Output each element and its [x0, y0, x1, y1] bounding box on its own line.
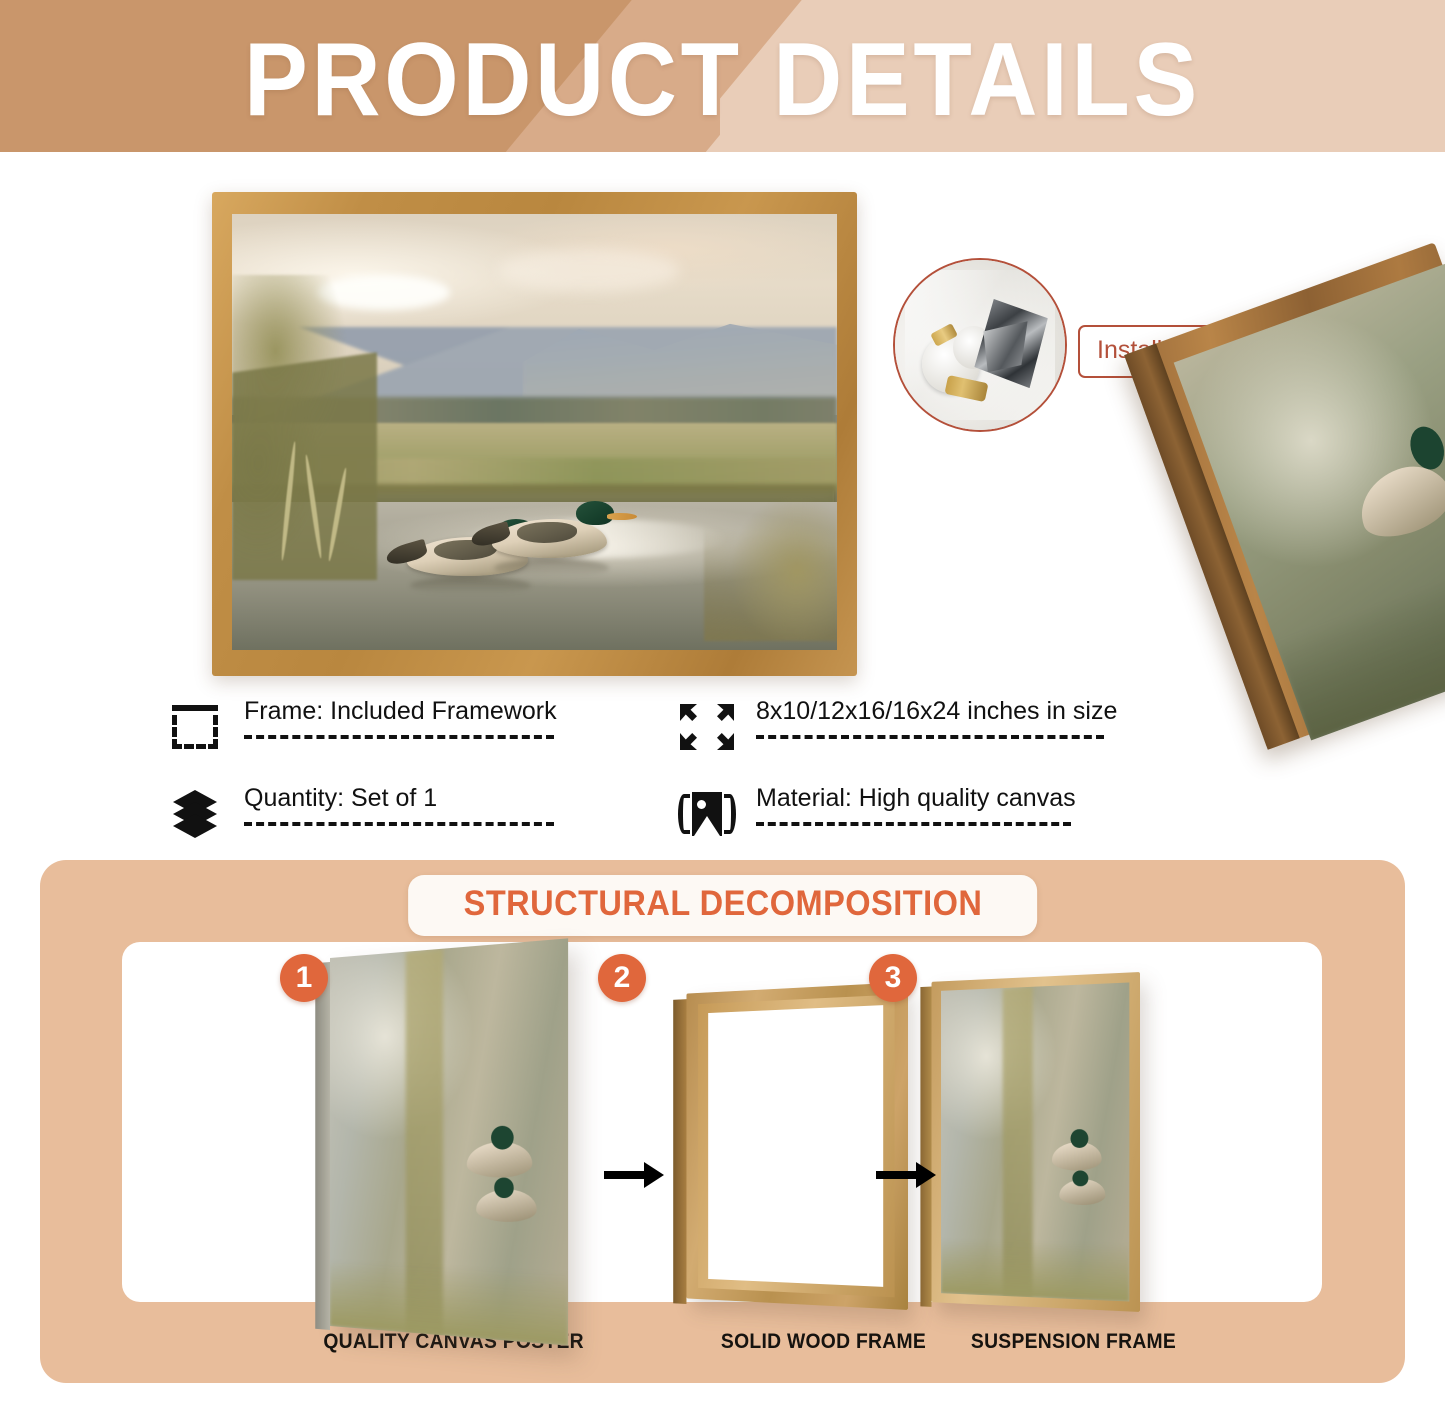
step-caption-2: SOLID WOOD FRAME	[721, 1330, 926, 1354]
decomposition-title: STRUCTURAL DECOMPOSITION	[463, 884, 982, 924]
step-arrow-2	[876, 1162, 936, 1188]
feature-label: Quantity: Set of 1	[244, 785, 554, 813]
decomposition-title-pill: STRUCTURAL DECOMPOSITION	[408, 875, 1038, 936]
duck-reflection	[494, 559, 609, 577]
feature-label: Frame: Included Framework	[244, 698, 557, 726]
painting-grass	[941, 1239, 1129, 1302]
feature-item-frame: Frame: Included Framework	[166, 698, 557, 756]
duck-bill	[607, 513, 637, 520]
step-badge-1: 1	[280, 954, 328, 1002]
installation-package-photo	[893, 258, 1067, 432]
frame-opening	[708, 1005, 883, 1287]
step-badge-3: 3	[869, 954, 917, 1002]
feature-label: 8x10/12x16/16x24 inches in size	[756, 698, 1117, 726]
frame-depth	[920, 987, 931, 1307]
duck-head	[494, 1178, 514, 1198]
feature-item-size: 8x10/12x16/16x24 inches in size	[678, 698, 1117, 756]
feature-item-quantity: Quantity: Set of 1	[166, 785, 554, 843]
frame-corner-detail	[1124, 242, 1445, 750]
hero-framed-artwork	[212, 192, 857, 676]
feature-list: Frame: Included Framework Quantity: Set …	[0, 690, 1445, 855]
duck-reflection	[410, 577, 531, 595]
feature-item-material: Material: High quality canvas	[678, 785, 1076, 843]
painting-duck	[492, 519, 607, 558]
duck-head	[1071, 1129, 1088, 1148]
canvas-edge	[315, 962, 330, 1330]
framed-artwork	[941, 982, 1129, 1301]
hardware-photo	[895, 260, 1065, 430]
painting-reeds-left	[232, 275, 377, 580]
feature-underline	[244, 735, 554, 739]
canvas-artwork	[330, 938, 568, 1345]
frame-depth	[673, 999, 686, 1304]
page-title: PRODUCT DETAILS	[58, 28, 1387, 132]
feature-underline	[756, 735, 1104, 739]
step-captions: QUALITY CANVAS POSTER SOLID WOOD FRAME S…	[122, 1330, 1322, 1370]
step-caption-3: SUSPENSION FRAME	[971, 1330, 1176, 1354]
duck-head	[1073, 1170, 1088, 1186]
hero-canvas	[232, 214, 837, 650]
painting-reeds-right	[704, 467, 837, 641]
picture-icon	[678, 785, 736, 843]
step-1-canvas-poster	[330, 938, 568, 1345]
step-arrow-1	[604, 1162, 664, 1188]
step-badge-2: 2	[598, 954, 646, 1002]
feature-underline	[244, 822, 554, 826]
resize-corners-icon	[678, 698, 736, 756]
step-2-solid-wood-frame	[686, 982, 908, 1310]
step-3-suspension-frame	[932, 972, 1140, 1312]
dashed-frame-icon	[166, 698, 224, 756]
feature-label: Material: High quality canvas	[756, 785, 1076, 813]
page-header: PRODUCT DETAILS	[0, 0, 1445, 152]
layers-icon	[166, 785, 224, 843]
feature-underline	[756, 822, 1071, 826]
painting-cloud	[498, 249, 680, 293]
